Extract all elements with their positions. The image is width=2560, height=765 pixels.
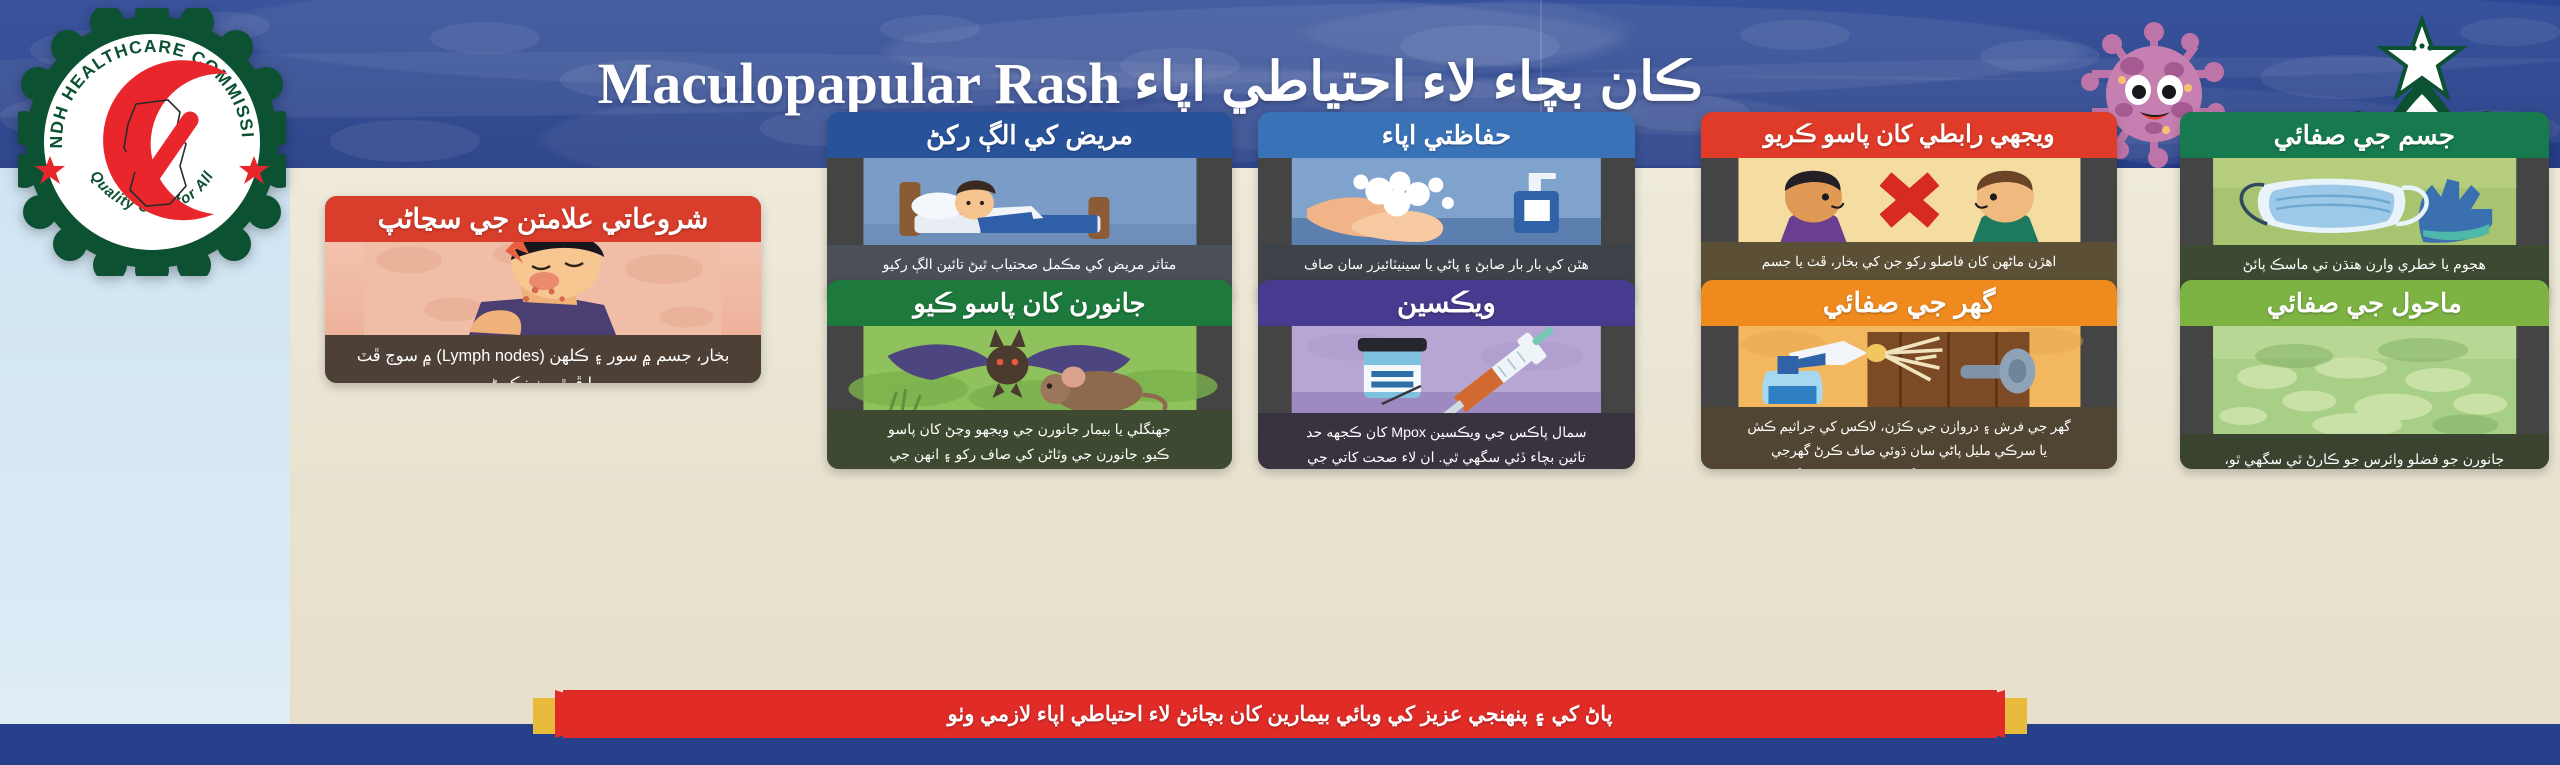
- card-title: شروعاتي علامتن جي سڃاڻپ: [325, 196, 760, 242]
- footer-zone: پاڻ کي ۽ پنهنجي عزيز کي وبائي بيمارين کا…: [0, 690, 2560, 765]
- card-body: جانورن جو فضلو وائرس جو ڪارڻ ٿي سگهي ٿو،…: [2180, 434, 2549, 469]
- card-body-hygiene[interactable]: جسم جي صفائي هجوم يا خطري وارن هنڌن تي م…: [2180, 112, 2549, 304]
- bat-and-rodent-illustration: [827, 326, 1233, 410]
- card-title: ماحول جي صفائي: [2180, 280, 2549, 326]
- card-symptom-recognition[interactable]: شروعاتي علامتن جي سڃاڻپ: [325, 196, 760, 383]
- page-title-english: Maculopapular Rash: [598, 50, 1121, 117]
- card-body: گهر جي فرش ۽ دروازن جي ڪڙن، لاڪس کي جراث…: [1701, 407, 2118, 469]
- card-line: يا ڦرڙيون نڪرڻ: [334, 371, 751, 383]
- card-line: مريض جا ڪپڙا ۽ بسترو الڳ ڪري صاف ڪرڻ گهر…: [1710, 464, 2109, 470]
- card-vaccine[interactable]: ويڪسين: [1258, 280, 1635, 469]
- card-avoid-close-contact[interactable]: ويجهي رابطي کان پاسو ڪريو: [1701, 112, 2118, 304]
- card-body: بخار، جسم ۾ سور ۽ ڪلهن (Lymph nodes) ۾ س…: [325, 335, 760, 383]
- card-body: سمال پاڪس جي ويڪسين Mpox کان ڪجهه حد تائ…: [1258, 413, 1635, 469]
- card-line: متاثر مريض کي مڪمل صحتياب ٿيڻ تائين الڳ …: [836, 253, 1224, 278]
- card-line: ڪيو. جانورن جي وٿاڻن کي صاف رکو ۽ انهن ج…: [836, 443, 1224, 468]
- card-title: ويڪسين: [1258, 280, 1635, 326]
- card-environment-cleaning[interactable]: ماحول جي صفائي جانورن جو فضلو وائرس جو ڪ…: [2180, 280, 2549, 469]
- handwashing-illustration: [1258, 158, 1635, 245]
- two-people-no-contact-illustration: [1701, 158, 2118, 242]
- card-protective-measures[interactable]: حفاظتي اپاء هٿن: [1258, 112, 1635, 304]
- card-title: جانورن کان پاسو ڪيو: [827, 280, 1233, 326]
- card-line: هٿن کي بار بار صابڻ ۽ پاڻي يا سينيٽائيزر…: [1267, 253, 1626, 278]
- card-line: جانورن جو فضلو وائرس جو ڪارڻ ٿي سگهي ٿو،: [2189, 448, 2540, 469]
- card-line: گهر جي فرش ۽ دروازن جي ڪڙن، لاڪس کي جراث…: [1710, 415, 2109, 439]
- vaccine-vial-and-syringe-illustration: [1258, 326, 1635, 413]
- card-line: يا سرڪي مليل پاڻي سان ڌوئي صاف ڪرڻ گهرجي: [1710, 439, 2109, 463]
- card-body: جهنگلي يا بيمار جانورن جي ويجهو وڃڻ کان …: [827, 410, 1233, 469]
- card-title: ويجهي رابطي کان پاسو ڪريو: [1701, 112, 2118, 158]
- footer-ribbon: پاڻ کي ۽ پنهنجي عزيز کي وبائي بيمارين کا…: [533, 690, 2027, 738]
- card-title: حفاظتي اپاء: [1258, 112, 1635, 158]
- card-title: گهر جي صفائي: [1701, 280, 2118, 326]
- patient-in-bed-illustration: [827, 158, 1233, 245]
- card-home-cleaning[interactable]: گهر جي صفائي: [1701, 280, 2118, 469]
- ribbon-banner: پاڻ کي ۽ پنهنجي عزيز کي وبائي بيمارين کا…: [563, 690, 1997, 738]
- card-line: جهنگلي يا بيمار جانورن جي ويجهو وڃڻ کان …: [836, 418, 1224, 443]
- sick-boy-with-rash-illustration: [325, 242, 760, 335]
- infographic-poster: ڪان بچاء لاء احتياطي اپاء Maculopapular …: [0, 0, 2560, 765]
- spray-bottle-and-door-illustration: [1701, 326, 2118, 407]
- card-line: هجوم يا خطري وارن هنڌن تي ماسڪ پائڻ: [2189, 253, 2540, 279]
- card-line: بخار، جسم ۾ سور ۽ ڪلهن (Lymph nodes) ۾ س…: [334, 343, 751, 371]
- card-line: اهڙن ماڻهن کان فاصلو رکو جن کي بخار، ڦٽ …: [1710, 250, 2109, 275]
- footer-message: پاڻ کي ۽ پنهنجي عزيز کي وبائي بيمارين کا…: [948, 702, 1613, 727]
- mask-and-gloves-illustration: [2180, 158, 2549, 245]
- card-line: تائين بچاء ڏئي سگهي ٿي. ان لاء صحت کاتي …: [1267, 446, 1626, 469]
- card-line: سمال پاڪس جي ويڪسين Mpox کان ڪجهه حد: [1267, 421, 1626, 446]
- green-environment-texture: [2180, 326, 2549, 434]
- page-title-sindhi: ڪان بچاء لاء احتياطي اپاء: [1134, 48, 1702, 117]
- card-title: جسم جي صفائي: [2180, 112, 2549, 158]
- sindh-healthcare-commission-logo: SINDH HEALTHCARE COMMISSION Quality Care…: [18, 8, 286, 276]
- card-title: مريض کي الڳ رکڻ: [827, 112, 1233, 158]
- card-avoid-animals[interactable]: جانورن کان پاسو ڪيو: [827, 280, 1233, 469]
- card-isolate-patient[interactable]: مريض کي الڳ رکڻ: [827, 112, 1233, 301]
